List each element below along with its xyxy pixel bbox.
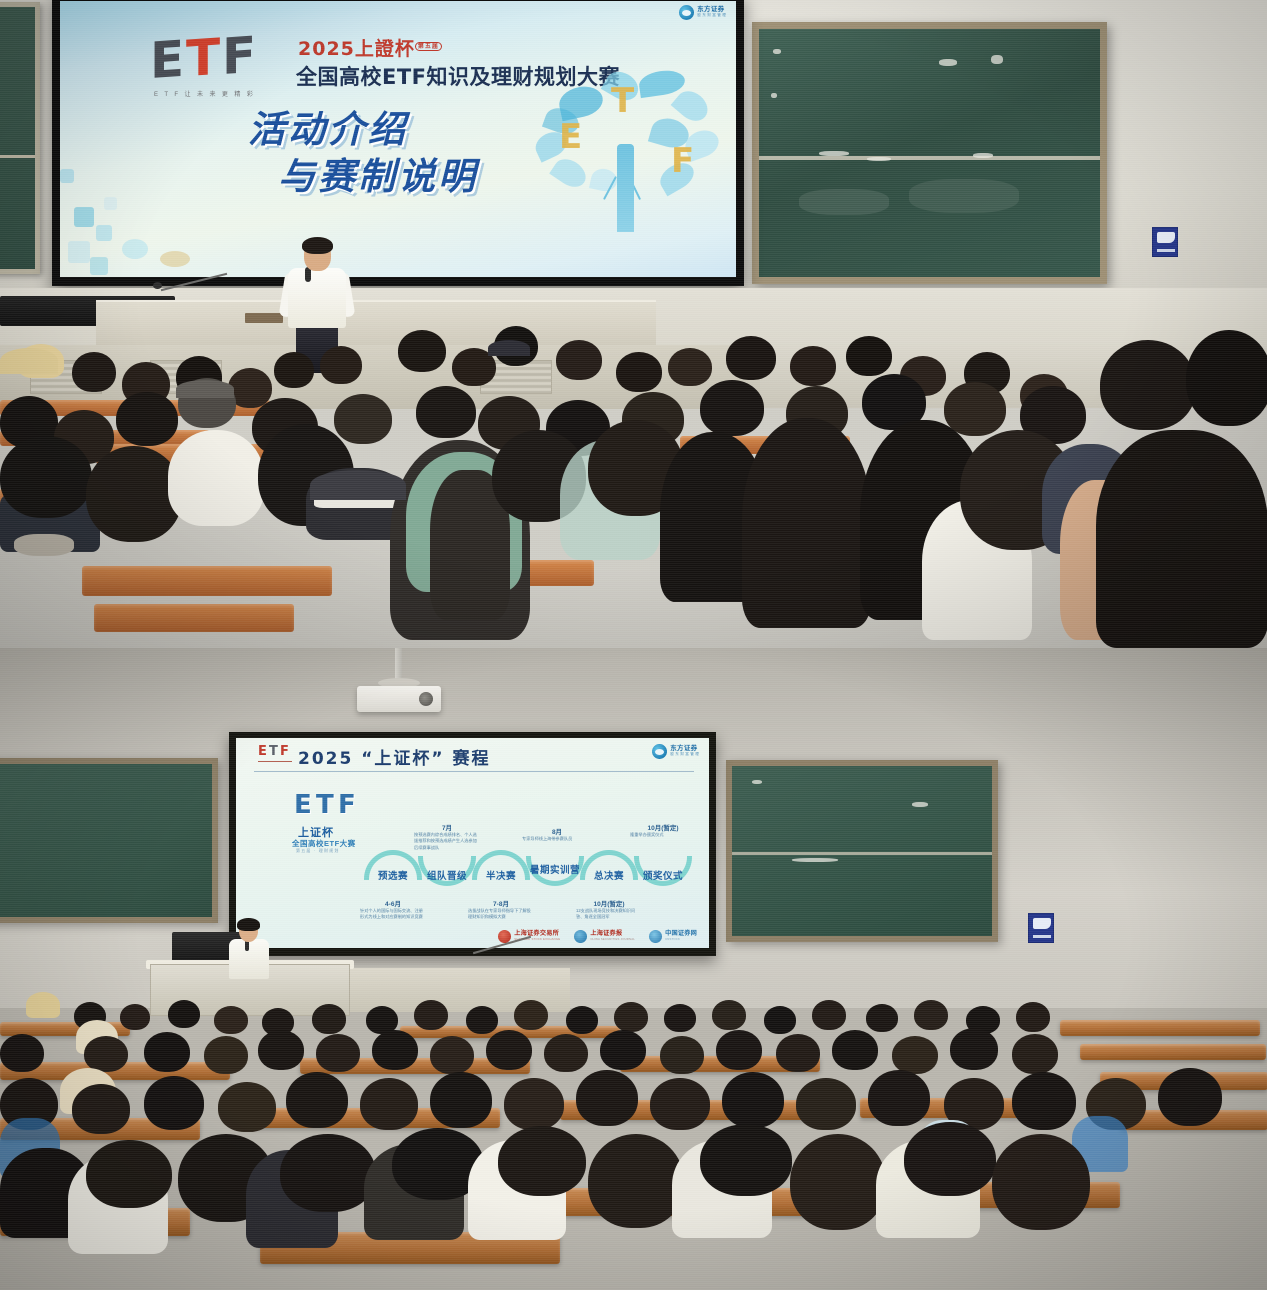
chalkboard-divider xyxy=(0,155,35,158)
chalkboard-right-top xyxy=(752,22,1107,284)
heading-year: 2025 xyxy=(298,38,355,60)
stage-month-3: 8月 xyxy=(524,826,590,836)
stage-name-3: 暑期实训营 xyxy=(524,866,586,877)
sponsor-subtitle: 股 东 财 富 管 理 xyxy=(697,14,726,18)
etf-tree-graphic: E T F xyxy=(535,57,720,232)
microphone-head-top xyxy=(153,282,162,289)
top-photo-panel: 东方证券 股 东 财 富 管 理 E T F E T F 让 未 来 更 精 彩… xyxy=(0,0,1267,648)
slide-footer-logos: 上海证券交易所 SHANGHAI STOCK EXCHANGE 上海证券报 CH… xyxy=(236,926,709,946)
bottom-photo-panel: E T F 2025 “上证杯” 赛程 东方证券 股 东 财 富 管 理 E xyxy=(0,648,1267,1290)
chalkboard-left-bottom xyxy=(0,758,218,923)
chalkboard-divider xyxy=(759,156,1100,160)
etf-logo-icon: E T F E T F 让 未 来 更 精 彩 xyxy=(150,35,275,97)
csj-sub: CHINA SECURITIES JOURNAL xyxy=(590,937,635,941)
tree-letter-e: E xyxy=(559,117,582,157)
etf-letter-f: F xyxy=(222,30,254,82)
stage-name-5: 颁奖仪式 xyxy=(634,872,692,883)
presenter-bottom xyxy=(228,920,270,976)
slide-competition-schedule: E T F 2025 “上证杯” 赛程 东方证券 股 东 财 富 管 理 E xyxy=(236,738,709,948)
cnstock-name: 中国证券网 xyxy=(665,931,697,938)
stage-desc-3: 专家导师线上海带参赛队员 xyxy=(522,836,588,842)
stage-name-4: 总决赛 xyxy=(580,872,638,883)
blue-notice-sign-top xyxy=(1152,227,1178,257)
stage-month-1: 7月 xyxy=(414,822,480,832)
title-line-1: 活动介绍 xyxy=(248,108,408,151)
chalkboard-left-top xyxy=(0,2,40,274)
stage-month-4: 10月(暂定) xyxy=(574,898,644,908)
stage-desc-4: 12支战队现场竞技和决赛知识问答、角逐全国冠军 xyxy=(576,908,642,921)
etf-letter-t: T xyxy=(186,32,218,84)
sse-name: 上海证券交易所 xyxy=(514,931,560,938)
etf-tagline: E T F 让 未 来 更 精 彩 xyxy=(154,89,255,98)
sponsor-logo-top: 东方证券 股 东 财 富 管 理 xyxy=(679,5,726,20)
stage-desc-1: 按预选赛内综合成绩排名、个人选拔推荐和按预选成绩产生人选参加后续赛事战队 xyxy=(414,832,480,851)
sponsor-logo-bottom: 东方证券 股 东 财 富 管 理 xyxy=(652,744,699,759)
heading-cup: 上證杯 xyxy=(355,38,415,60)
blue-notice-sign-bottom xyxy=(1028,913,1054,943)
projection-screen-top: 东方证券 股 东 财 富 管 理 E T F E T F 让 未 来 更 精 彩… xyxy=(52,0,744,286)
stage-month-2: 7-8月 xyxy=(468,898,534,908)
projector-lens-icon xyxy=(419,692,433,706)
slide-activity-intro: 东方证券 股 东 财 富 管 理 E T F E T F 让 未 来 更 精 彩… xyxy=(60,1,736,277)
orient-securities-icon xyxy=(679,5,694,20)
heading-badge: 第五届 xyxy=(415,42,442,51)
chalkboard-right-bottom xyxy=(726,760,998,942)
projection-screen-bottom: E T F 2025 “上证杯” 赛程 东方证券 股 东 财 富 管 理 E xyxy=(229,732,716,956)
sponsor-subtitle: 股 东 财 富 管 理 xyxy=(670,753,699,757)
stage-name-0: 预选赛 xyxy=(364,872,422,883)
tree-trunk xyxy=(617,144,634,232)
stage-desc-5: 隆重举办颁奖仪式 xyxy=(630,832,696,838)
csj-logo: 上海证券报 CHINA SECURITIES JOURNAL xyxy=(574,930,635,943)
slide-mini-etf-logo: E T F xyxy=(258,744,292,766)
cnstock-logo: 中国证券网 CNSTOCK xyxy=(649,930,697,943)
cnstock-sub: CNSTOCK xyxy=(665,937,697,941)
orient-securities-icon xyxy=(652,744,667,759)
slide-main-title: 活动介绍 与赛制说明 xyxy=(248,106,478,201)
badge-fineprint: 第五届 · 理财规划 xyxy=(296,848,340,854)
csj-name: 上海证券报 xyxy=(590,931,635,938)
stage-name-1: 组队晋级 xyxy=(418,872,476,883)
ceiling-projector xyxy=(357,686,441,712)
stage-desc-0: 针对个人的国际与国际交流、注册形式为线上和对应赛制的知识竞赛 xyxy=(360,908,426,921)
stage-desc-2: 选拔战队在专家导师指导下了解投理财知识和模拟大赛 xyxy=(468,908,534,921)
tree-letter-t: T xyxy=(611,81,634,121)
stage-month-0: 4-6月 xyxy=(360,898,426,908)
slide-heading-year-cup: 2025上證杯第五届 xyxy=(298,34,442,61)
stage-name-2: 半决赛 xyxy=(472,872,530,883)
desk-nameplate xyxy=(245,313,283,323)
title-line-2: 与赛制说明 xyxy=(278,153,478,200)
stage-month-5: 10月(暂定) xyxy=(628,822,698,832)
tree-letter-f: F xyxy=(671,141,694,181)
etf-letter-e: E xyxy=(150,34,182,86)
slide-title-schedule: 2025 “上证杯” 赛程 xyxy=(298,744,491,769)
photo-collage: 东方证券 股 东 财 富 管 理 E T F E T F 让 未 来 更 精 彩… xyxy=(0,0,1267,1290)
